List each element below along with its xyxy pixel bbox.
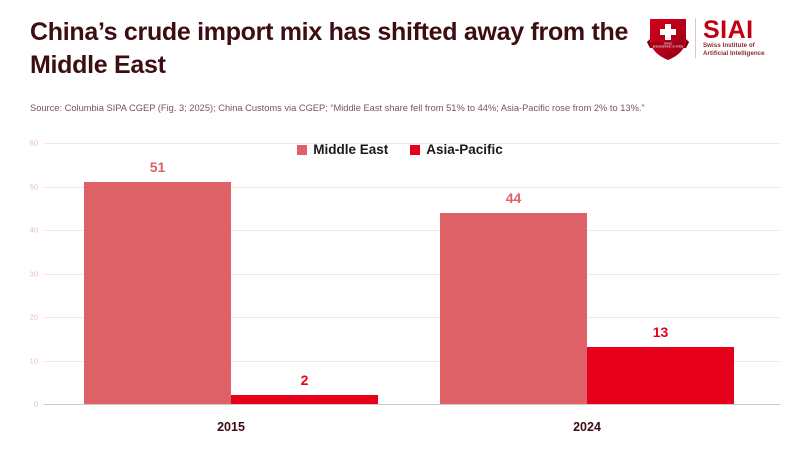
y-axis-tick-label: 30 — [10, 269, 38, 278]
y-axis-tick-label: 0 — [10, 400, 38, 409]
bar-middle-east-2015[interactable] — [84, 182, 231, 404]
x-axis-line — [44, 404, 780, 405]
logo-subtitle-line1: Swiss Institute of — [703, 42, 786, 50]
y-axis-tick-label: 40 — [10, 226, 38, 235]
x-axis-label-2015: 2015 — [84, 420, 378, 434]
y-axis-tick-label: 10 — [10, 356, 38, 365]
bar-middle-east-2024[interactable] — [440, 213, 587, 404]
bar-asia-pacific-2024[interactable] — [587, 347, 734, 404]
plot-area: 0102030405060512201544132024 — [44, 143, 780, 404]
siai-logo: SWISS ENGINEERING SYSTEM SIAI Swiss Inst… — [646, 13, 786, 63]
x-axis-label-2024: 2024 — [440, 420, 734, 434]
source-note: Source: Columbia SIPA CGEP (Fig. 3; 2025… — [30, 102, 775, 115]
bar-value-label: 51 — [84, 159, 231, 175]
svg-text:ENGINEERING SYSTEM: ENGINEERING SYSTEM — [653, 44, 684, 48]
bar-asia-pacific-2015[interactable] — [231, 395, 378, 404]
y-axis-tick-label: 20 — [10, 313, 38, 322]
logo-subtitle-line2: Artificial Intelligence — [703, 50, 786, 58]
bar-chart: 0102030405060512201544132024 Middle East… — [0, 136, 800, 450]
logo-divider — [695, 18, 696, 58]
gridline — [44, 143, 780, 144]
bar-value-label: 44 — [440, 190, 587, 206]
logo-wordmark: SIAI Swiss Institute of Artificial Intel… — [703, 18, 786, 58]
bar-value-label: 13 — [587, 324, 734, 340]
header: China’s crude import mix has shifted awa… — [0, 0, 800, 96]
logo-acronym: SIAI — [703, 18, 786, 42]
bar-value-label: 2 — [231, 372, 378, 388]
swiss-shield-cross-icon: SWISS ENGINEERING SYSTEM — [646, 15, 690, 61]
y-axis-tick-label: 60 — [10, 139, 38, 148]
y-axis-tick-label: 50 — [10, 182, 38, 191]
page-title: China’s crude import mix has shifted awa… — [30, 16, 650, 82]
